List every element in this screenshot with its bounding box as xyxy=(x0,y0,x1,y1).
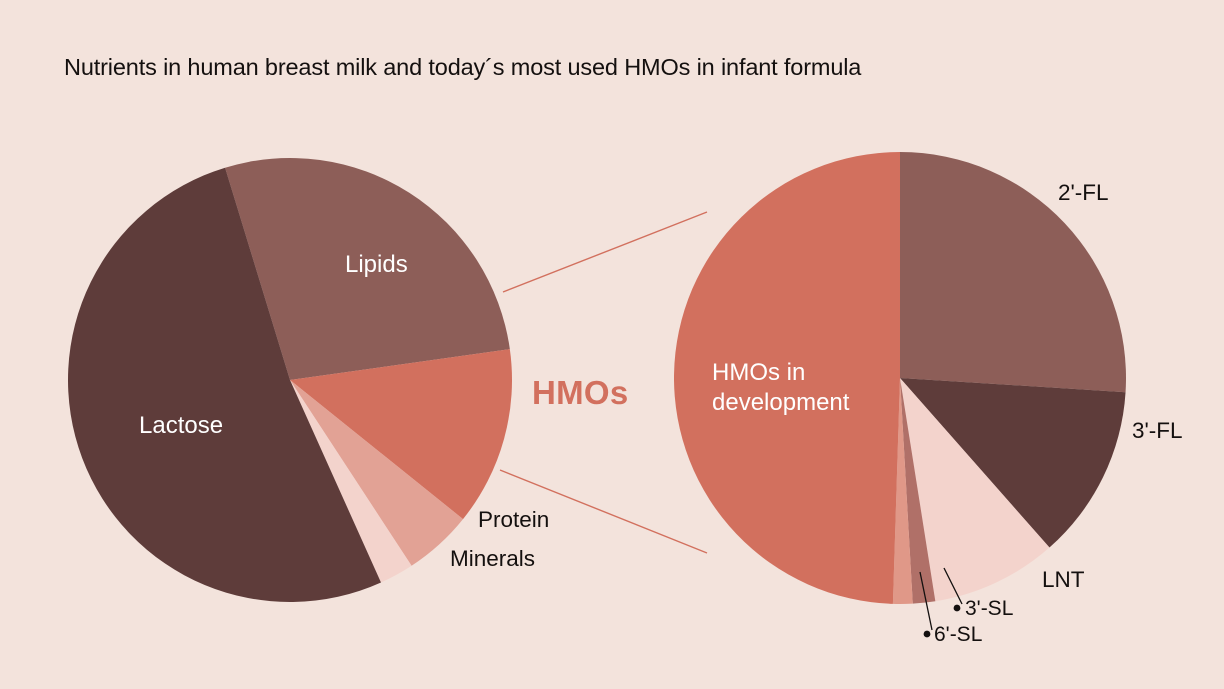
left-label-lipids: Lipids xyxy=(345,251,408,278)
right-label-3fl: 3'-FL xyxy=(1132,418,1183,443)
left-label-minerals: Minerals xyxy=(450,546,535,571)
callout-3sl-dot xyxy=(954,605,961,612)
callout-6sl-dot xyxy=(924,631,931,638)
right-label-6sl: 6'-SL xyxy=(934,623,982,646)
right-label-lnt: LNT xyxy=(1042,567,1085,592)
left-label-lactose: Lactose xyxy=(139,412,223,439)
right-label-hmos-in-development-line1: HMOs in xyxy=(712,359,805,386)
right-label-hmos-in-development-line2: development xyxy=(712,389,850,416)
left-label-protein: Protein xyxy=(478,507,549,532)
pie-charts-figure: Lipids Lactose Protein Minerals HMOs HMO… xyxy=(0,0,1224,689)
right-pie-chart: HMOs in development 2'-FL 3'-FL LNT 3'-S… xyxy=(674,152,1183,646)
right-label-3sl: 3'-SL xyxy=(965,597,1013,620)
left-pie-chart: Lipids Lactose Protein Minerals xyxy=(68,158,549,602)
upper-connector-line xyxy=(503,212,707,292)
right-label-2fl: 2'-FL xyxy=(1058,180,1109,205)
hmos-center-label: HMOs xyxy=(532,374,629,411)
chart-canvas: Nutrients in human breast milk and today… xyxy=(0,0,1224,689)
